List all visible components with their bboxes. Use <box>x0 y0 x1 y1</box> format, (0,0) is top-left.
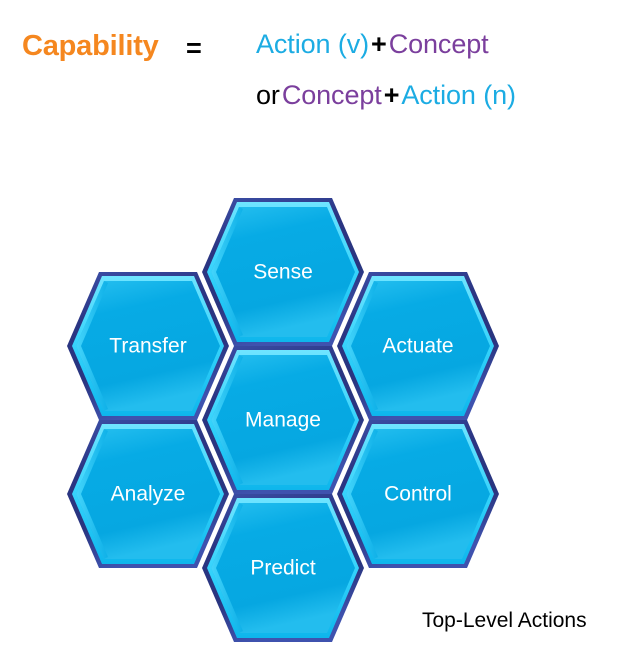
hexagon-manage[interactable]: Manage <box>202 346 364 494</box>
hexagon-label: Transfer <box>109 335 186 358</box>
token-or: or <box>256 80 282 110</box>
token-action-n: Action (n) <box>401 80 516 110</box>
hexagon-label: Manage <box>245 409 321 432</box>
hexagon-transfer[interactable]: Transfer <box>67 272 229 420</box>
diagram-caption: Top-Level Actions <box>422 609 587 633</box>
token-concept-1: Concept <box>389 29 489 59</box>
hexagon-analyze[interactable]: Analyze <box>67 420 229 568</box>
hexagon-label: Predict <box>250 557 316 580</box>
token-plus-1: + <box>369 29 389 59</box>
hexagon-label: Actuate <box>382 335 453 358</box>
hexagon-actuate[interactable]: Actuate <box>337 272 499 420</box>
hexagon-sense[interactable]: Sense <box>202 198 364 346</box>
hexagon-predict[interactable]: Predict <box>202 494 364 642</box>
token-action-v: Action (v) <box>256 29 369 59</box>
token-plus-2: + <box>382 80 402 110</box>
token-concept-2: Concept <box>282 80 382 110</box>
capability-term: Capability <box>22 30 159 63</box>
formula-line-2: orConcept+Action (n) <box>256 80 516 111</box>
hexagon-label: Sense <box>253 261 313 284</box>
hexagon-control[interactable]: Control <box>337 420 499 568</box>
hexagon-label: Control <box>384 483 452 506</box>
formula-line-1: Action (v)+Concept <box>256 29 489 60</box>
equals-sign: = <box>186 33 202 64</box>
capability-formula: Capability = Action (v)+Concept orConcep… <box>0 0 635 140</box>
hexagon-label: Analyze <box>111 483 186 506</box>
